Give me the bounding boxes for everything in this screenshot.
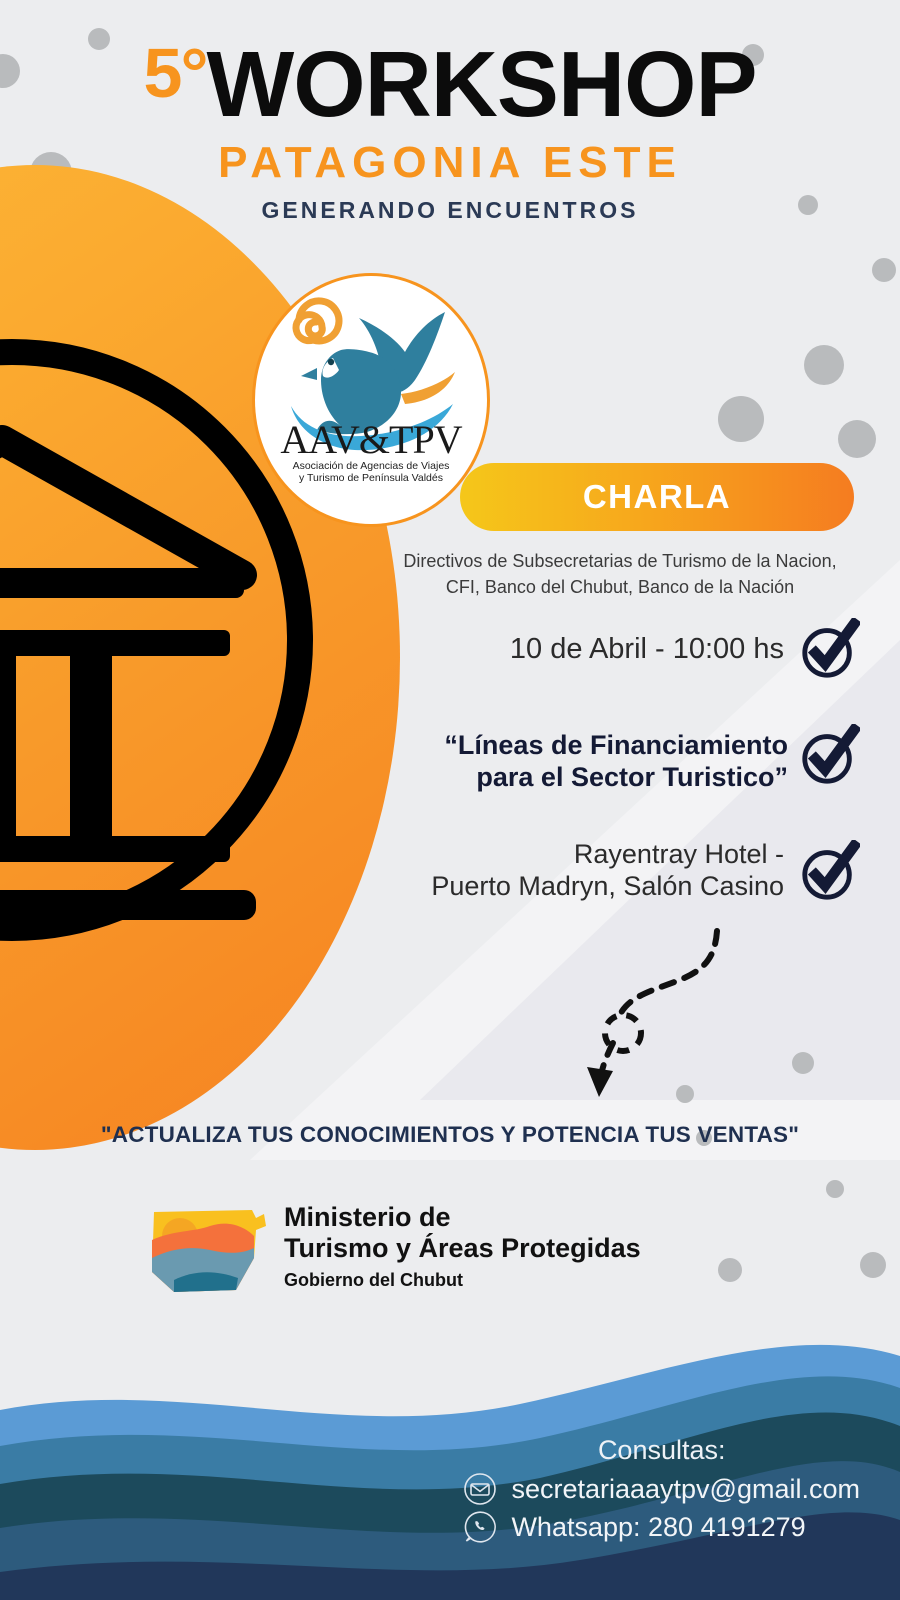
aavtpv-logo-graphic (255, 276, 487, 524)
phone-icon (463, 1510, 497, 1544)
contact-title: Consultas: (463, 1435, 860, 1466)
sun-spiral-icon (296, 301, 339, 341)
subtitle: PATAGONIA ESTE (0, 138, 900, 188)
venue-line-2: Puerto Madryn, Salón Casino (350, 870, 784, 902)
envelope-icon (463, 1472, 497, 1506)
date-row: 10 de Abril - 10:00 hs (360, 618, 860, 680)
ministry-line-2: Turismo y Áreas Protegidas (284, 1233, 641, 1264)
whatsapp-value: Whatsapp: 280 4191279 (511, 1512, 805, 1543)
date-text: 10 de Abril - 10:00 hs (360, 633, 790, 666)
topic-row: “Líneas de Financiamiento para el Sector… (330, 730, 860, 794)
speakers-line-2: CFI, Banco del Chubut, Banco de la Nació… (380, 574, 860, 600)
venue-line-1: Rayentray Hotel - (350, 838, 784, 870)
aavtpv-logo: AAV&TPV Asociación de Agencias de Viajes… (255, 276, 487, 524)
decor-bubble (826, 1180, 844, 1198)
email-value: secretariaaaytpv@gmail.com (511, 1474, 860, 1505)
email-row[interactable]: secretariaaaytpv@gmail.com (463, 1472, 860, 1506)
speakers-block: Directivos de Subsecretarias de Turismo … (380, 548, 860, 600)
decor-bubble (872, 258, 896, 282)
decor-bubble (792, 1052, 814, 1074)
logo-subtitle-line2: y Turismo de Península Valdés (255, 472, 487, 484)
topic-line-1: “Líneas de Financiamiento (330, 730, 788, 762)
decor-bubble (804, 345, 844, 385)
venue-row: Rayentray Hotel - Puerto Madryn, Salón C… (350, 838, 860, 903)
page-title: WORKSHOP (206, 40, 756, 128)
speakers-line-1: Directivos de Subsecretarias de Turismo … (380, 548, 860, 574)
charla-banner: CHARLA (460, 463, 854, 531)
venue-text: Rayentray Hotel - Puerto Madryn, Salón C… (350, 838, 790, 903)
header: 5° WORKSHOP PATAGONIA ESTE GENERANDO ENC… (0, 0, 900, 224)
check-circle-icon (798, 840, 860, 902)
ministry-line-1: Ministerio de (284, 1202, 641, 1233)
contact-block: Consultas: secretariaaaytpv@gmail.com Wh… (463, 1435, 860, 1544)
logo-wordmark: AAV&TPV (255, 416, 487, 463)
topic-text: “Líneas de Financiamiento para el Sector… (330, 730, 790, 794)
charla-label: CHARLA (583, 478, 731, 516)
check-circle-icon (798, 618, 860, 680)
wave-decoration (0, 1260, 900, 1600)
check-circle-icon (798, 724, 860, 786)
logo-subtitle-line1: Asociación de Agencias de Viajes (255, 460, 487, 472)
decor-bubble (838, 420, 876, 458)
title-row: 5° WORKSHOP (0, 40, 900, 128)
dashed-curved-arrow-icon (565, 925, 755, 1100)
poster-canvas: 5° WORKSHOP PATAGONIA ESTE GENERANDO ENC… (0, 0, 900, 1600)
call-to-action-text: "ACTUALIZA TUS CONOCIMIENTOS Y POTENCIA … (0, 1122, 900, 1148)
whatsapp-row[interactable]: Whatsapp: 280 4191279 (463, 1510, 860, 1544)
decor-bubble (718, 396, 764, 442)
sub-subtitle: GENERANDO ENCUENTROS (0, 197, 900, 224)
ordinal-number: 5° (144, 40, 207, 107)
topic-line-2: para el Sector Turistico” (330, 762, 788, 794)
